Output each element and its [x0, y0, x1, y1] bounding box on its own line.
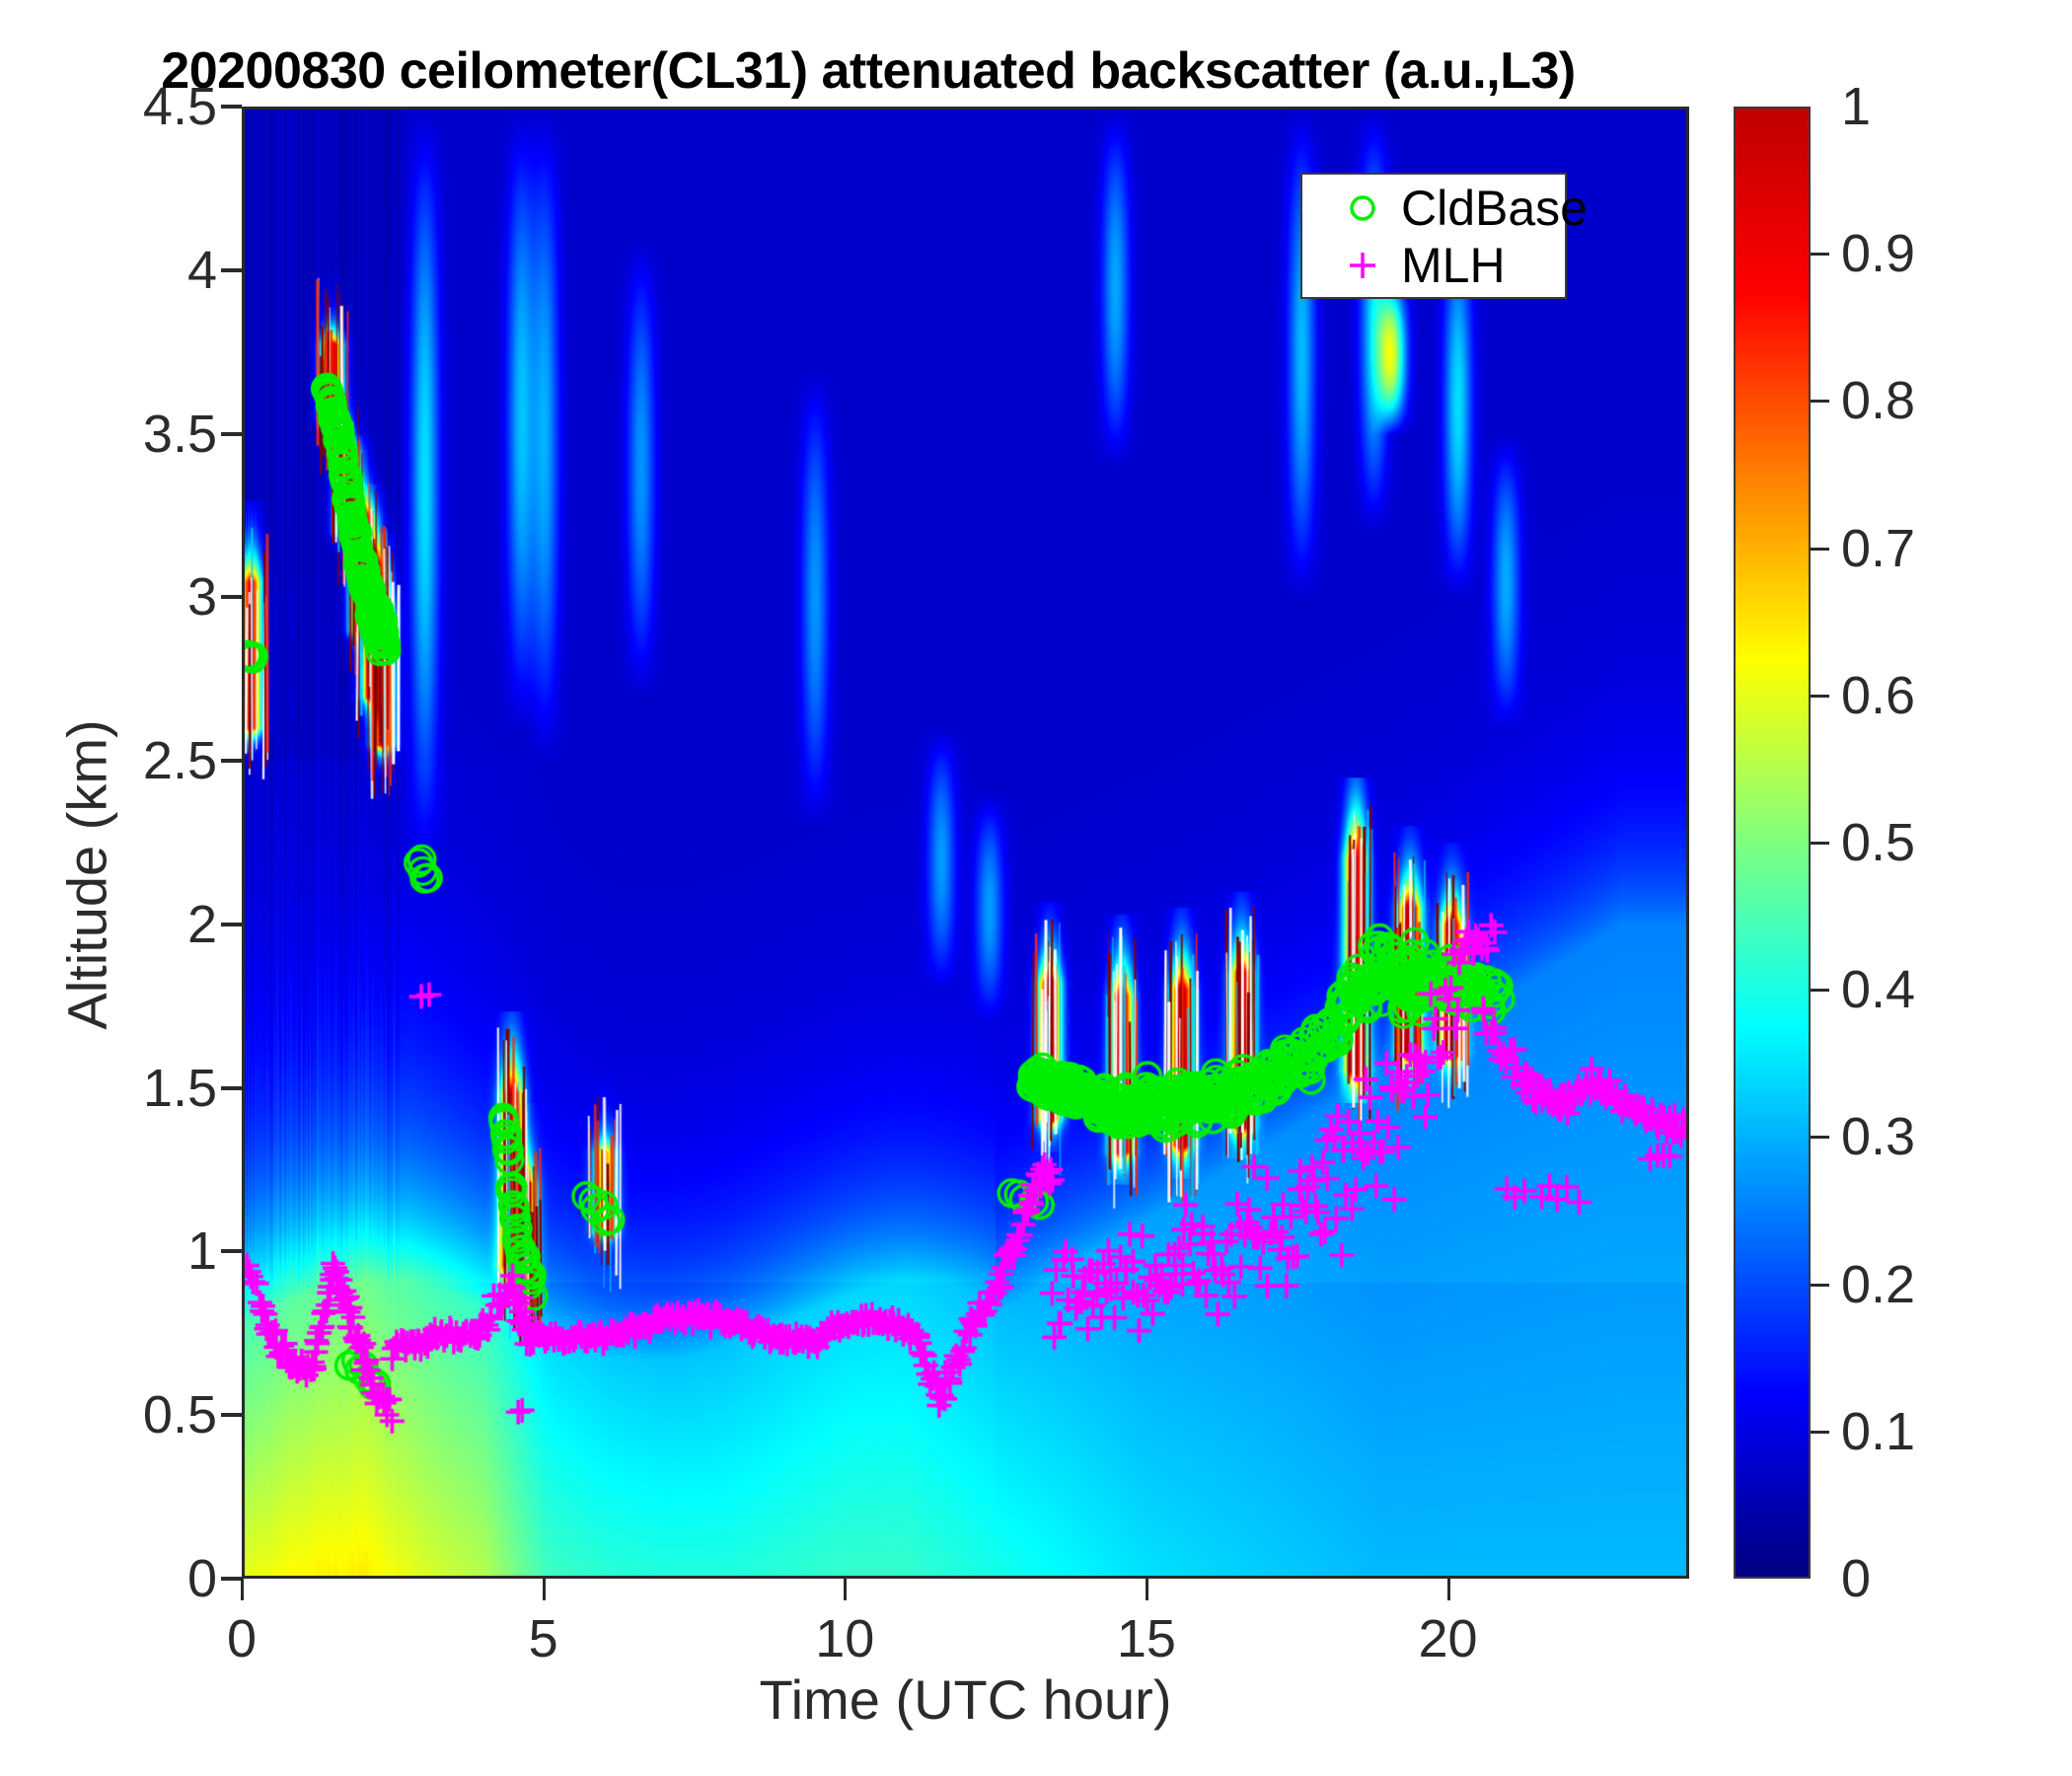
colorbar-tick-mark: [1811, 989, 1829, 992]
colorbar-tick-mark: [1811, 1136, 1829, 1139]
y-tick-label: 0: [0, 1548, 217, 1609]
y-tick-mark: [221, 1249, 242, 1253]
y-tick-label: 4: [0, 240, 217, 301]
colorbar-tick-label: 0: [1841, 1548, 2029, 1609]
plus-marker-icon: [1340, 238, 1385, 293]
y-tick-mark: [221, 268, 242, 272]
colorbar-tick-mark: [1811, 695, 1829, 698]
colorbar-tick-mark: [1811, 1284, 1829, 1287]
x-tick-label: 15: [1068, 1608, 1225, 1669]
legend-entry-cldbase: CldBase: [1302, 181, 1565, 236]
legend-entry-mlh: MLH: [1302, 238, 1565, 293]
circle-marker-icon: [1340, 181, 1385, 236]
colorbar-tick-label: 1: [1841, 76, 2029, 137]
y-tick-label: 3.5: [0, 404, 217, 465]
colorbar-tick-mark: [1811, 253, 1829, 256]
colorbar-tick-label: 0.2: [1841, 1254, 2029, 1315]
colorbar-tick-mark: [1811, 842, 1829, 845]
x-tick-label: 0: [163, 1608, 321, 1669]
legend-label-mlh: MLH: [1401, 238, 1506, 293]
y-tick-mark: [221, 595, 242, 599]
x-tick-mark: [1447, 1579, 1450, 1600]
x-tick-mark: [543, 1579, 546, 1600]
x-tick-label: 20: [1369, 1608, 1527, 1669]
colorbar-tick-mark: [1811, 548, 1829, 551]
y-tick-mark: [221, 759, 242, 763]
page-title: 20200830 ceilometer(CL31) attenuated bac…: [0, 41, 1737, 101]
colorbar-tick-mark: [1811, 1431, 1829, 1434]
colorbar: [1734, 107, 1811, 1579]
y-tick-label: 4.5: [0, 76, 217, 137]
x-tick-mark: [1146, 1579, 1148, 1600]
y-tick-mark: [221, 1086, 242, 1090]
colorbar-tick-label: 0.9: [1841, 223, 2029, 284]
colorbar-tick-label: 0.5: [1841, 812, 2029, 873]
legend-label-cldbase: CldBase: [1401, 181, 1588, 236]
colorbar-tick-label: 0.6: [1841, 665, 2029, 726]
y-axis-label: Altitude (km): [55, 599, 119, 1151]
colorbar-tick-label: 0.7: [1841, 518, 2029, 579]
y-tick-mark: [221, 105, 242, 109]
x-tick-label: 5: [465, 1608, 623, 1669]
y-tick-mark: [221, 1577, 242, 1581]
x-tick-label: 10: [766, 1608, 924, 1669]
colorbar-tick-label: 0.3: [1841, 1106, 2029, 1167]
colorbar-gradient: [1736, 109, 1809, 1577]
colorbar-tick-label: 0.1: [1841, 1401, 2029, 1462]
x-tick-mark: [241, 1579, 244, 1600]
y-tick-mark: [221, 432, 242, 436]
y-tick-mark: [221, 923, 242, 926]
marker-overlay: [245, 110, 1686, 1576]
colorbar-tick-label: 0.8: [1841, 370, 2029, 431]
legend: CldBase MLH: [1300, 173, 1567, 299]
colorbar-tick-mark: [1811, 400, 1829, 403]
plot-area: [242, 107, 1689, 1579]
ceilometer-backscatter-figure: 20200830 ceilometer(CL31) attenuated bac…: [0, 0, 2072, 1776]
y-tick-label: 0.5: [0, 1384, 217, 1445]
y-tick-label: 1: [0, 1221, 217, 1282]
x-tick-mark: [844, 1579, 847, 1600]
x-axis-label: Time (UTC hour): [242, 1667, 1689, 1732]
colorbar-tick-label: 0.4: [1841, 959, 2029, 1020]
y-tick-mark: [221, 1413, 242, 1417]
